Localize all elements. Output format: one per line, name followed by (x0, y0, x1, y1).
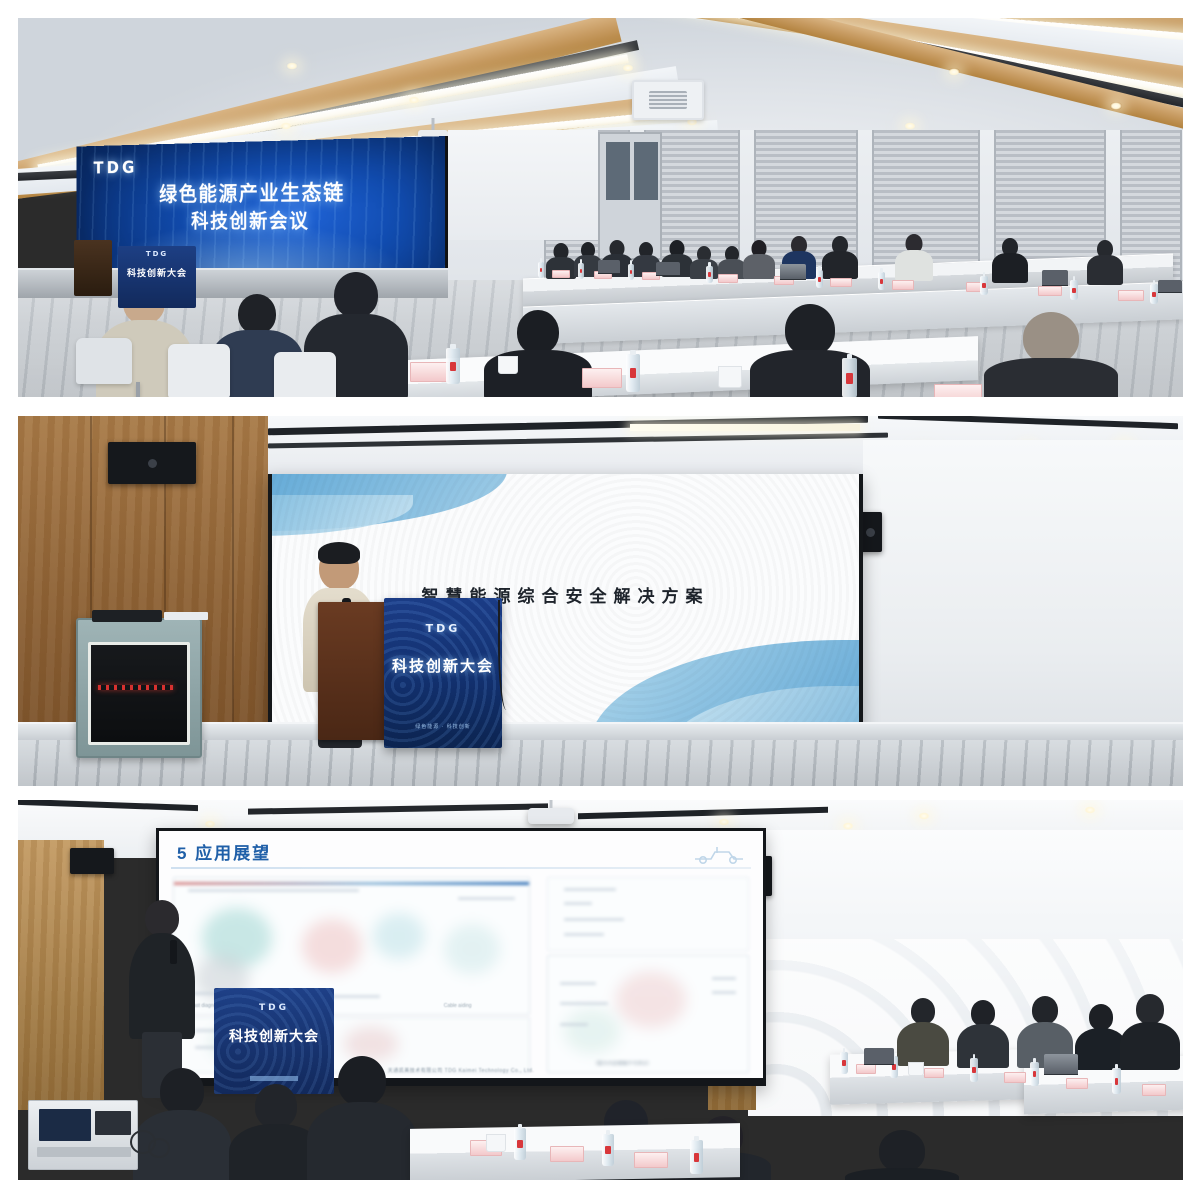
chair[interactable] (168, 344, 230, 397)
name-card (830, 278, 852, 287)
name-card (892, 280, 914, 290)
ceiling-downlight (280, 122, 292, 130)
presenter (130, 900, 194, 1096)
slide-microtext (712, 991, 736, 994)
name-card (934, 384, 982, 397)
water-bottle (842, 358, 857, 397)
slide-microtext (564, 902, 592, 905)
wall-right-presenter (863, 440, 1183, 740)
attendee-foreground (136, 1068, 228, 1180)
slide-microtext (560, 1002, 608, 1005)
paper-cup (718, 366, 742, 388)
name-card (550, 1146, 584, 1162)
panel-seam (232, 416, 234, 742)
monitor-screen (39, 1109, 91, 1141)
attendee (823, 236, 857, 278)
rack-top-paper (164, 612, 208, 620)
ceiling-projector (528, 808, 574, 824)
attendee (898, 998, 948, 1062)
lectern-body (318, 602, 388, 740)
chair[interactable] (274, 352, 336, 397)
presenter-jacket (129, 933, 195, 1039)
attendee-foreground (988, 312, 1114, 397)
ceiling-downlight (948, 68, 960, 76)
photo-panel-plenary: TDG 绿色能源产业生态链 科技创新会议 (18, 18, 1183, 397)
name-card (1038, 286, 1062, 296)
water-bottle (602, 1134, 614, 1166)
water-bottle (970, 1058, 978, 1082)
slide-header: 5 应用展望 (159, 831, 763, 871)
attendee (1076, 1004, 1126, 1066)
slide-section-title: 5 应用展望 (177, 839, 271, 864)
attendee (993, 238, 1027, 282)
slide-figure-right-bottom: （图示内容模糊不可辨识） (547, 955, 749, 1073)
ceiling-downlight (1110, 102, 1122, 110)
slide-blur-blob (564, 1009, 620, 1053)
lectern-sub-text: 绿色能源 · 科技创新 (384, 723, 502, 730)
slide-header-rule (171, 867, 751, 869)
slide-corner-logo-icon (691, 843, 747, 865)
photo-panel-presenter: 智慧能源综合安全解决方案 TDG 科技创新大会 绿色能源 · 科技创新 (18, 416, 1183, 786)
tdg-logo-lectern: TDG (384, 622, 502, 635)
water-bottle (626, 354, 640, 392)
slide-microtext (712, 977, 736, 980)
laptop[interactable] (656, 262, 680, 275)
slide-label-cable-aiding: Cable aiding (444, 1003, 472, 1009)
tdg-logo-led: TDG (93, 157, 137, 178)
ceiling-downlight (622, 64, 634, 72)
name-card (924, 1068, 944, 1078)
ceiling-light-strip (630, 424, 860, 431)
chair[interactable] (76, 338, 132, 384)
handheld-microphone (170, 940, 177, 964)
water-bottle (1070, 280, 1078, 300)
paper-cup (908, 1062, 924, 1076)
conference-title-line2: 科技创新会议 (77, 207, 445, 237)
photo-collage: TDG 绿色能源产业生态链 科技创新会议 (0, 0, 1200, 1200)
wall-loudspeaker (108, 442, 196, 484)
name-card (1004, 1072, 1026, 1083)
ceiling-downlight (718, 818, 730, 826)
attendee-foreground (848, 1130, 956, 1180)
water-bottle (980, 276, 988, 295)
attendee (690, 246, 718, 278)
paper-cup (486, 1134, 506, 1152)
ceiling-downlight (204, 820, 216, 828)
paper-cup (498, 356, 518, 374)
ceiling-downlight (904, 122, 916, 130)
laptop[interactable] (780, 264, 806, 279)
microphone-cable (498, 600, 512, 710)
name-card (718, 274, 738, 283)
av-control-cart[interactable] (28, 1100, 138, 1170)
chair-leg (136, 382, 140, 397)
tdg-logo-podium: TDG (214, 1003, 334, 1013)
attendee (958, 1000, 1008, 1064)
water-bottle (1030, 1062, 1039, 1086)
lectern-main-text: 科技创新大会 (384, 655, 502, 676)
cart-shelf (37, 1147, 131, 1157)
water-bottle (446, 348, 460, 384)
tdg-logo-podium: TDG (118, 250, 196, 258)
water-bottle (628, 264, 634, 280)
ceiling-downlight (842, 822, 854, 830)
water-bottle (690, 1140, 703, 1174)
name-card (1118, 290, 1144, 301)
laptop[interactable] (864, 1048, 894, 1064)
slide-blur-blob (302, 919, 362, 973)
name-card (634, 1152, 668, 1168)
slide-figure-right-top (547, 877, 749, 951)
name-card (1066, 1078, 1088, 1089)
rack-glass-door[interactable] (88, 642, 190, 745)
slide-microtext (188, 889, 358, 892)
cable-coil (148, 1138, 170, 1158)
stage-lectern (74, 240, 112, 296)
slide-figure-gradient-bar (174, 882, 529, 885)
water-bottle (816, 270, 823, 288)
water-bottle (840, 1052, 848, 1074)
conference-title-line1: 绿色能源产业生态链 (77, 176, 445, 209)
ceiling-ac-cassette (632, 80, 704, 120)
laptop[interactable] (1042, 270, 1068, 285)
podium-banner-accent (250, 1076, 298, 1081)
water-bottle (706, 266, 713, 283)
slide-microtext (564, 888, 616, 891)
wall-loudspeaker (70, 848, 114, 874)
attendee (1088, 240, 1122, 284)
slide-microtext (560, 1023, 588, 1026)
ceiling-beam (268, 433, 888, 449)
laptop[interactable] (1044, 1054, 1078, 1074)
ceiling-downlight (1084, 806, 1096, 814)
water-bottle (538, 262, 544, 278)
slide-blur-blob (444, 924, 500, 974)
water-bottle (578, 263, 584, 279)
conference-title-led: 绿色能源产业生态链 科技创新会议 (77, 176, 445, 237)
ceiling-downlight (918, 812, 930, 820)
slide-microtext (564, 918, 624, 921)
laptop[interactable] (598, 260, 620, 273)
ceiling-beam (578, 807, 828, 820)
ceiling-beam (878, 416, 1178, 429)
slide-microtext (564, 933, 604, 936)
podium-banner-text: 科技创新大会 (214, 1026, 334, 1046)
podium-banner-text: 科技创新大会 (118, 266, 196, 279)
slide-microtext (458, 897, 515, 900)
upper-wall-plenary (448, 130, 598, 240)
name-card (552, 270, 570, 278)
slide-blur-blob (616, 972, 686, 1028)
ceiling-downlight (408, 96, 420, 104)
ceiling-beam (248, 803, 548, 814)
attendee-foreground (310, 1056, 414, 1180)
name-card (410, 362, 450, 382)
laptop[interactable] (95, 1111, 131, 1135)
ceiling-beam (18, 800, 198, 811)
rack-status-leds (98, 685, 174, 690)
water-bottle (1112, 1068, 1121, 1094)
attendee (1122, 994, 1178, 1066)
water-bottle (514, 1128, 526, 1160)
attendee-foreground (488, 310, 588, 397)
slide-blur-blob (373, 913, 425, 959)
wall-wood-panelling-left (18, 840, 104, 1110)
slide-figure-caption: （图示内容模糊不可辨识） (592, 1060, 652, 1067)
photo-panel-slide-presentation: 5 应用展望 (18, 800, 1183, 1180)
ceiling-downlight (286, 62, 298, 70)
attendee (744, 240, 774, 278)
slide-microtext (560, 982, 596, 985)
presenter-hair (318, 542, 360, 564)
name-card (856, 1064, 876, 1074)
water-bottle (1150, 284, 1158, 304)
name-card (1142, 1084, 1166, 1096)
lectern-banner: TDG 科技创新大会 绿色能源 · 科技创新 (384, 598, 502, 748)
presenter-head (145, 900, 179, 936)
name-card (582, 368, 622, 388)
laptop[interactable] (1158, 280, 1182, 292)
water-bottle (878, 272, 885, 290)
attendee (896, 234, 932, 280)
av-equipment-rack[interactable] (76, 618, 202, 758)
rack-top-equipment (92, 610, 162, 622)
